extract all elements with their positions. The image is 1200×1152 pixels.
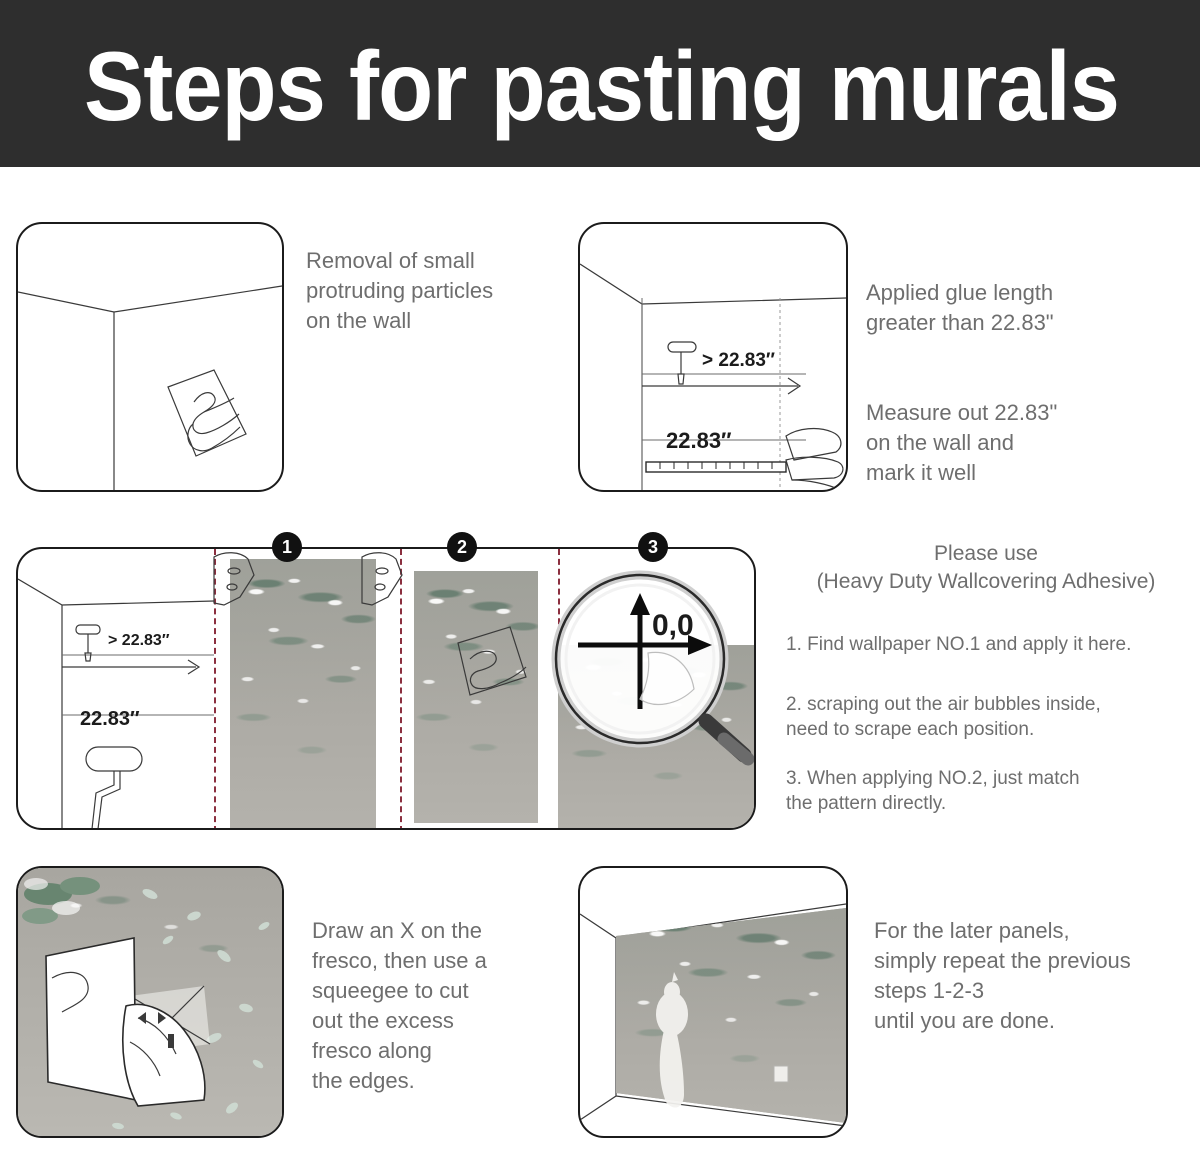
- panel-apply-panels: > 22.83″ 22.83″: [16, 547, 756, 830]
- mid-step-3: 3. When applying NO.2, just match the pa…: [786, 766, 1198, 816]
- foliage-accent: [22, 877, 100, 924]
- wall-measure-illustration: > 22.83″ 22.83″: [18, 549, 214, 829]
- paint-roller-icon: [86, 747, 142, 829]
- caption-repeat-panels: For the later panels, simply repeat the …: [874, 916, 1200, 1036]
- mural-strip-3: [558, 645, 754, 830]
- caption-glue-length: Applied glue length greater than 22.83": [866, 278, 1166, 338]
- page-title: Steps for pasting murals: [84, 30, 1119, 142]
- wall-corner-illustration: [18, 224, 282, 490]
- panel-glue-and-measure: > 22.83″ 22.83″: [578, 222, 848, 492]
- mid-step-2: 2. scraping out the air bubbles inside, …: [786, 692, 1198, 742]
- caption-measure-mark: Measure out 22.83" on the wall and mark …: [866, 398, 1166, 488]
- glue-roller-icon: [668, 342, 696, 384]
- marking-hand-icon: [786, 429, 843, 490]
- panel-trim-edges: [16, 866, 284, 1138]
- glue-measure-illustration: > 22.83″ 22.83″: [580, 224, 846, 490]
- panel-repeat-panels: [578, 866, 848, 1138]
- mural-strip-1: [230, 559, 376, 830]
- roller-length-label: > 22.83″: [702, 350, 775, 371]
- step-badge-3: 3: [638, 532, 668, 562]
- step-badge-2: 2: [447, 532, 477, 562]
- adhesive-heading: Please use (Heavy Duty Wallcovering Adhe…: [776, 540, 1196, 596]
- squeegee-trim-illustration: [18, 868, 282, 1136]
- panel-seam-1: [214, 549, 216, 830]
- mid-step-1: 1. Find wallpaper NO.1 and apply it here…: [786, 632, 1198, 657]
- mid-measure-label: 22.83″: [80, 708, 140, 730]
- panel-seam-2: [400, 549, 402, 830]
- panel-wall-preparation: [16, 222, 284, 492]
- glue-roller-icon-small: [76, 625, 100, 661]
- origin-label: 0,0: [652, 609, 694, 642]
- scraper-hand-icon: [168, 370, 246, 456]
- caption-wall-preparation: Removal of small protruding particles on…: [306, 246, 556, 336]
- caption-trim-edges: Draw an X on the fresco, then use a sque…: [312, 916, 562, 1096]
- finished-mural-wall: [616, 908, 846, 1123]
- mural-strip-2: [414, 571, 538, 823]
- measure-length-label: 22.83″: [666, 428, 732, 453]
- mid-roller-label: > 22.83″: [108, 632, 170, 649]
- step-badge-1: 1: [272, 532, 302, 562]
